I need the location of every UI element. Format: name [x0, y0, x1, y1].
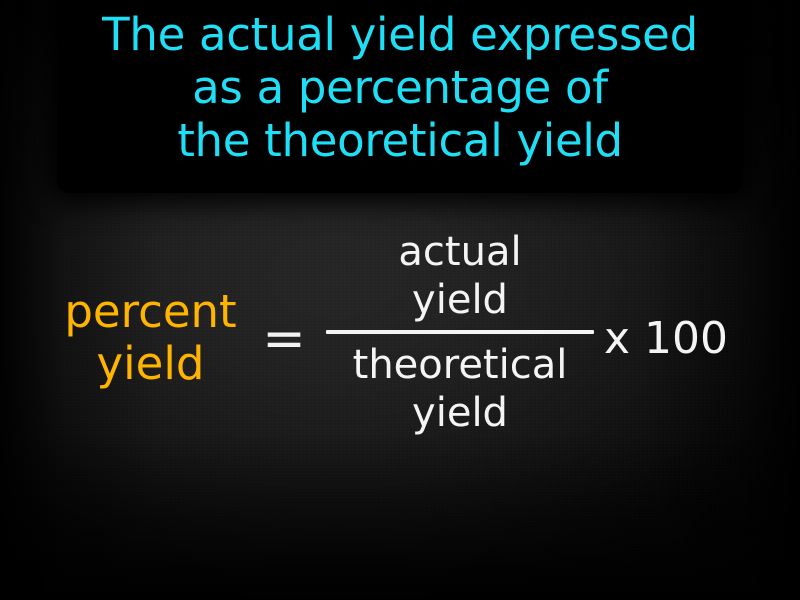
numerator-line-2: yield — [324, 276, 596, 324]
left-term-line-2: yield — [48, 338, 253, 390]
fraction-bar — [326, 330, 594, 334]
definition-line-2: as a percentage of — [57, 61, 743, 114]
denominator-line-2: yield — [324, 389, 596, 437]
percent-yield-formula: percent yield = actual yield theoretical… — [0, 228, 800, 468]
formula-fraction: actual yield theoretical yield — [324, 228, 596, 437]
formula-multiplier: x 100 — [604, 316, 728, 362]
definition-statement: The actual yield expressed as a percenta… — [57, 8, 743, 167]
fraction-numerator: actual yield — [324, 228, 596, 324]
definition-line-1: The actual yield expressed — [57, 8, 743, 61]
formula-left-term: percent yield — [48, 286, 253, 390]
equals-sign: = — [256, 313, 312, 365]
definition-line-3: the theoretical yield — [57, 114, 743, 167]
left-term-line-1: percent — [48, 286, 253, 338]
numerator-line-1: actual — [324, 228, 596, 276]
fraction-denominator: theoretical yield — [324, 341, 596, 437]
denominator-line-1: theoretical — [324, 341, 596, 389]
slide-canvas: The actual yield expressed as a percenta… — [0, 0, 800, 600]
